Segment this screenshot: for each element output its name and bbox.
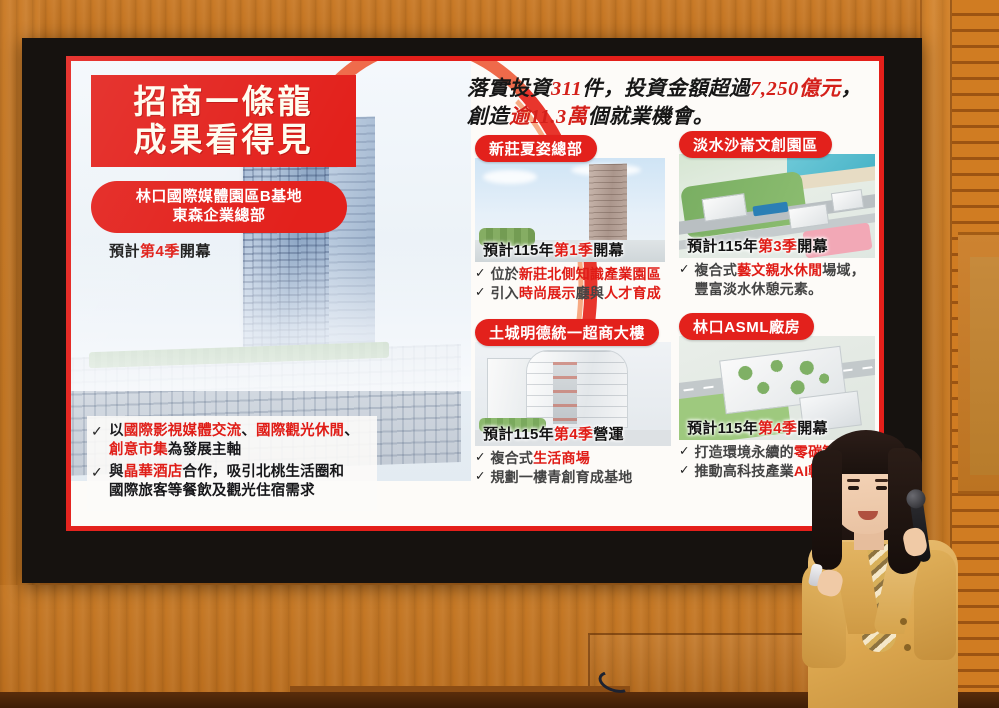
headline-line-1: 落實投資311件，投資金額超過7,250億元，	[467, 75, 879, 103]
eyebrow-left	[847, 479, 860, 482]
card-title-pill: 林口ASML廠房	[679, 313, 814, 340]
card-title-pill: 新莊夏姿總部	[475, 135, 597, 162]
card1-bullet-2: 引入時尚展示廳與人才育成	[490, 284, 660, 302]
display-screen-bezel: 招商一條龍 成果看得見 林口國際媒體園區B基地 東森企業總部 預計第4季開幕 ✓…	[22, 38, 922, 583]
presenter-speaker	[796, 422, 976, 708]
conference-room-scene: 招商一條龍 成果看得見 林口國際媒體園區B基地 東森企業總部 預計第4季開幕 ✓…	[0, 0, 999, 708]
card-banner: 預計115年第3季開幕	[687, 235, 875, 256]
check-icon: ✓	[91, 422, 103, 460]
check-icon: ✓	[91, 463, 103, 501]
card3-bullet-1: 複合式生活商場	[490, 449, 589, 467]
main-building	[526, 350, 628, 428]
list-item: ✓ 引入時尚展示廳與人才育成	[475, 284, 665, 302]
card-image: 預計115年第1季開幕	[475, 158, 665, 262]
hair-side-left	[812, 450, 842, 570]
card-tamsui-shalun[interactable]: 淡水沙崙文創園區 預計115年第3季開幕	[679, 131, 875, 299]
card-xinzhuang-shiatzy[interactable]: 新莊夏姿總部 預計115年第1季開幕 ✓ 位於新莊北側知識產業園區	[475, 135, 665, 303]
slide-title-line-1: 招商一條龍	[134, 84, 314, 120]
card-bullet-list: ✓ 位於新莊北側知識產業園區 ✓ 引入時尚展示廳與人才育成	[475, 265, 665, 302]
eye-right	[876, 486, 887, 490]
right-arm	[914, 550, 956, 660]
check-icon: ✓	[475, 449, 485, 467]
headline-line-2: 創造逾11.3萬個就業機會。	[467, 103, 879, 131]
card2-bullet-2: 豐富淡水休憩元素。	[694, 280, 822, 298]
slide-title-block: 招商一條龍 成果看得見	[91, 75, 356, 167]
linkou-bullet-2: 與晶華酒店合作，吸引北桃生活圈和國際旅客等餐飲及觀光住宿需求	[109, 463, 344, 501]
card-bullet-list: ✓ 複合式藝文親水休閒場域， ✓ 豐富淡水休憩元素。	[679, 261, 875, 298]
list-item: ✓ 以國際影視媒體交流、國際觀光休閒、創意市集為發展主軸	[91, 422, 373, 460]
card3-bullet-2: 規劃一樓青創育成基地	[490, 468, 632, 486]
linkou-opening-note: 預計第4季開幕	[109, 240, 211, 261]
cloud	[483, 170, 537, 184]
eyebrow-right	[875, 479, 888, 482]
card-title-pill: 淡水沙崙文創園區	[679, 131, 832, 158]
card-image: 預計115年第3季開幕	[679, 154, 875, 258]
card-title-pill: 土城明德統一超商大樓	[475, 319, 659, 346]
jacket-button	[900, 618, 907, 625]
check-icon: ✓	[475, 284, 485, 302]
list-item: ✓ 規劃一樓青創育成基地	[475, 468, 671, 486]
linkou-bullet-1: 以國際影視媒體交流、國際觀光休閒、創意市集為發展主軸	[109, 422, 359, 460]
check-icon: ✓	[679, 443, 689, 461]
card1-bullet-1: 位於新莊北側知識產業園區	[490, 265, 660, 283]
card-banner: 預計115年第4季營運	[483, 423, 671, 444]
slide-headline: 落實投資311件，投資金額超過7,250億元， 創造逾11.3萬個就業機會。	[467, 75, 879, 132]
card-banner: 預計115年第1季開幕	[483, 239, 665, 260]
card-tucheng-mingde[interactable]: 土城明德統一超商大樓 預計115年第4季營運 ✓ 複合式生活商場	[475, 319, 671, 487]
atrium-core	[553, 362, 577, 424]
linkou-project-pill: 林口國際媒體園區B基地 東森企業總部	[91, 181, 347, 233]
check-icon: ✓	[475, 468, 485, 486]
card-image: 預計115年第4季營運	[475, 342, 671, 446]
linkou-pill-line-2: 東森企業總部	[172, 207, 265, 226]
presentation-slide: 招商一條龍 成果看得見 林口國際媒體園區B基地 東森企業總部 預計第4季開幕 ✓…	[71, 61, 879, 526]
check-icon: ✓	[679, 261, 689, 279]
jacket-button	[904, 644, 911, 651]
card-bullet-list: ✓ 複合式生活商場 ✓ 規劃一樓青創育成基地	[475, 449, 671, 486]
list-item: ✓ 複合式生活商場	[475, 449, 671, 467]
card2-bullet-1: 複合式藝文親水休閒場域，	[694, 261, 864, 279]
slide-title-line-2: 成果看得見	[134, 122, 314, 158]
check-icon: ✓	[679, 462, 689, 480]
list-item: ✓ 與晶華酒店合作，吸引北桃生活圈和國際旅客等餐飲及觀光住宿需求	[91, 463, 373, 501]
list-item: ✓ 複合式藝文親水休閒場域，	[679, 261, 875, 279]
linkou-pill-line-1: 林口國際媒體園區B基地	[136, 188, 302, 207]
linkou-bullet-list: ✓ 以國際影視媒體交流、國際觀光休閒、創意市集為發展主軸 ✓ 與晶華酒店合作，吸…	[87, 416, 377, 511]
list-item: ✓ 豐富淡水休憩元素。	[679, 280, 875, 298]
list-item: ✓ 位於新莊北側知識產業園區	[475, 265, 665, 283]
check-icon: ✓	[475, 265, 485, 283]
slide-red-border: 招商一條龍 成果看得見 林口國際媒體園區B基地 東森企業總部 預計第4季開幕 ✓…	[66, 56, 884, 531]
eye-left	[848, 486, 859, 490]
